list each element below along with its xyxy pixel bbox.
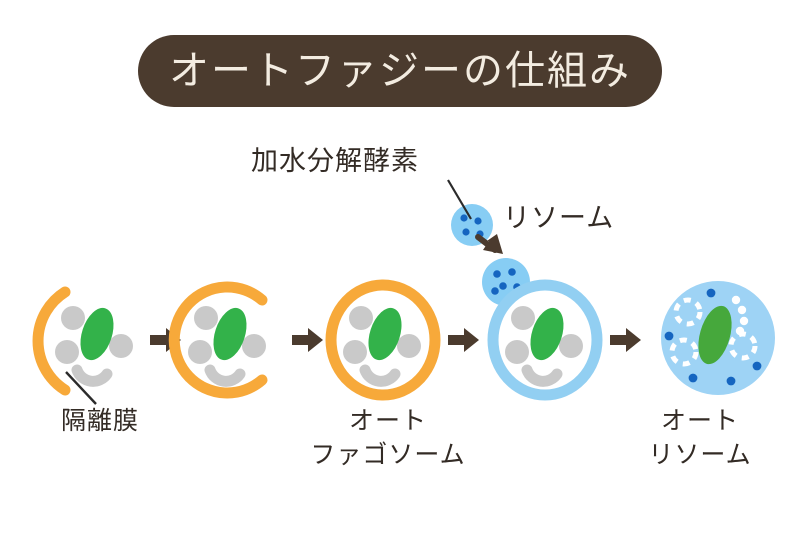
fusion-arrow [478,234,503,254]
enzyme-dot [689,374,698,383]
enzyme-dot [753,362,762,371]
enzyme-dot [493,270,501,278]
enzyme-dot [499,282,507,290]
white-dot [736,327,744,335]
isolation-membrane-arc [38,292,65,390]
enzyme-dot [462,228,469,235]
lysosome-free-vesicle [451,204,493,246]
enzyme-dot [460,214,467,221]
enzyme-dot [707,289,716,298]
enzyme-dot [665,332,674,341]
stage-autophagosome [331,285,435,395]
autophagy-diagram [0,0,800,533]
stage-autolysosome [661,281,775,395]
flow-arrow-4 [610,328,641,352]
cargo-group-2 [188,304,266,382]
white-dot [732,296,740,304]
stage-elongating-membrane [174,287,266,393]
enzyme-dot [474,217,481,224]
white-dot [740,317,748,325]
stage-fusing-with-lysosome [482,258,597,395]
enzyme-dot [491,287,499,295]
enzyme-dot [508,268,516,276]
white-dot [738,306,746,314]
enzyme-dot [727,377,736,386]
lysosome-body [451,204,493,246]
stage-isolation-membrane [38,292,133,404]
infographic-canvas: オートファジーの仕組み 加水分解酵素 リソーム 隔離膜 オート ファゴソーム オ… [0,0,800,533]
cargo-group-1 [55,304,133,382]
flow-arrow-3 [448,328,479,352]
flow-arrow-2 [292,328,323,352]
